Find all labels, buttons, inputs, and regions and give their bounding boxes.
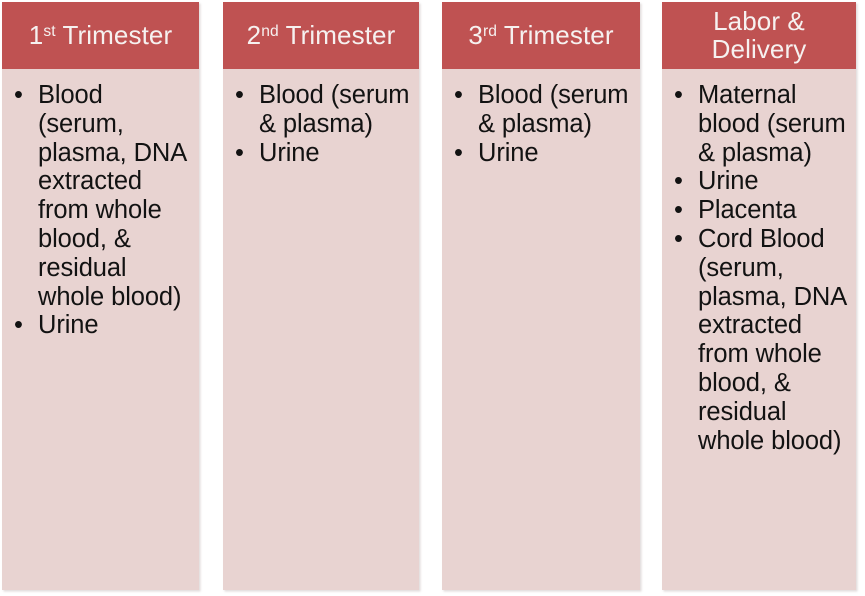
- column-labor-and-delivery: Labor & Delivery Maternal blood (serum &…: [662, 2, 856, 590]
- header-ordinal-suffix: st: [43, 23, 55, 40]
- column-header-first-trimester: 1st Trimester: [2, 2, 199, 69]
- list-item: Urine: [662, 167, 850, 196]
- column-body-third-trimester: Blood (serum & plasma) Urine: [442, 69, 640, 167]
- column-body-labor-and-delivery: Maternal blood (serum & plasma) Urine Pl…: [662, 69, 856, 455]
- header-label-rest: Trimester: [497, 20, 614, 50]
- specimen-list: Blood (serum, plasma, DNA extracted from…: [2, 81, 193, 340]
- header-line-2: Delivery: [712, 34, 807, 64]
- list-item: Blood (serum & plasma): [442, 81, 634, 139]
- list-item: Cord Blood (serum, plasma, DNA extracted…: [662, 225, 850, 455]
- column-header-third-trimester: 3rd Trimester: [442, 2, 640, 69]
- list-item: Placenta: [662, 196, 850, 225]
- column-body-second-trimester: Blood (serum & plasma) Urine: [223, 69, 419, 167]
- list-item: Urine: [442, 139, 634, 168]
- list-item: Urine: [2, 311, 193, 340]
- column-body-first-trimester: Blood (serum, plasma, DNA extracted from…: [2, 69, 199, 340]
- header-ordinal-number: 3: [468, 20, 483, 50]
- specimen-list: Blood (serum & plasma) Urine: [223, 81, 413, 167]
- specimen-list: Blood (serum & plasma) Urine: [442, 81, 634, 167]
- column-header-labor-and-delivery: Labor & Delivery: [662, 2, 856, 69]
- header-line-1: Labor &: [713, 6, 805, 36]
- column-third-trimester: 3rd Trimester Blood (serum & plasma) Uri…: [442, 2, 640, 590]
- header-label-rest: Trimester: [279, 20, 396, 50]
- header-ordinal-suffix: nd: [261, 23, 279, 40]
- column-first-trimester: 1st Trimester Blood (serum, plasma, DNA …: [2, 2, 199, 590]
- list-item: Urine: [223, 139, 413, 168]
- list-item: Blood (serum, plasma, DNA extracted from…: [2, 81, 193, 311]
- column-second-trimester: 2nd Trimester Blood (serum & plasma) Uri…: [223, 2, 419, 590]
- header-ordinal-number: 2: [247, 20, 262, 50]
- header-ordinal-suffix: rd: [483, 23, 497, 40]
- header-label-rest: Trimester: [56, 20, 173, 50]
- list-item: Blood (serum & plasma): [223, 81, 413, 139]
- header-ordinal-number: 1: [29, 20, 44, 50]
- trimester-specimen-table: 1st Trimester Blood (serum, plasma, DNA …: [0, 0, 865, 596]
- specimen-list: Maternal blood (serum & plasma) Urine Pl…: [662, 81, 850, 455]
- column-header-second-trimester: 2nd Trimester: [223, 2, 419, 69]
- list-item: Maternal blood (serum & plasma): [662, 81, 850, 167]
